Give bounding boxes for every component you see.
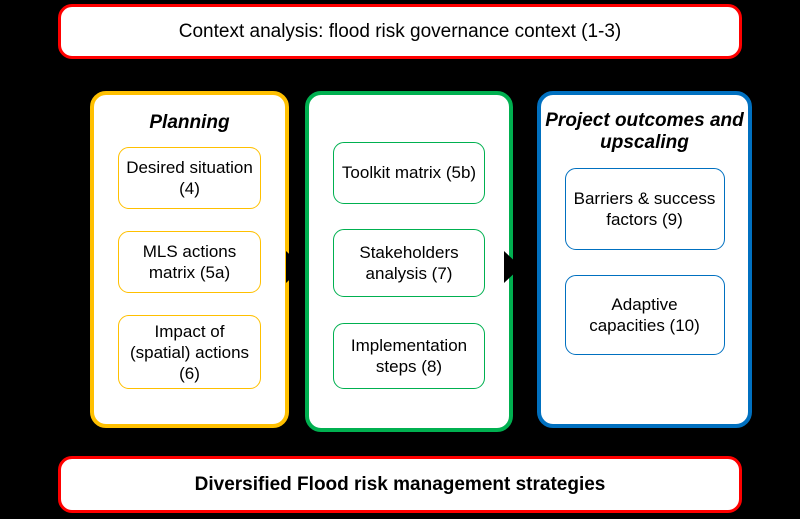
column-planning-title: Planning (94, 112, 285, 134)
diversified-strategies-banner: Diversified Flood risk management strate… (58, 456, 742, 513)
card-barriers-and-success-factors-label: Barriers & success factors (9) (572, 188, 718, 230)
diversified-strategies-banner-label: Diversified Flood risk management strate… (195, 474, 606, 496)
column-planning: Planning Desired situation (4) MLS actio… (90, 91, 289, 428)
card-adaptive-capacities: Adaptive capacities (10) (565, 275, 725, 355)
arrow-right-icon-process-to-outcomes (504, 251, 521, 283)
card-implementation-steps-label: Implementation steps (8) (340, 335, 478, 377)
card-implementation-steps: Implementation steps (8) (333, 323, 485, 389)
card-adaptive-capacities-label: Adaptive capacities (10) (572, 294, 718, 336)
card-toolkit-matrix-label: Toolkit matrix (5b) (342, 162, 476, 183)
column-project-outcomes-title: Project outcomes and upscaling (541, 110, 748, 155)
card-mls-actions-matrix-label: MLS actions matrix (5a) (125, 241, 254, 283)
column-project-outcomes: Project outcomes and upscaling Barriers … (537, 91, 752, 428)
card-desired-situation: Desired situation (4) (118, 147, 261, 209)
card-barriers-and-success-factors: Barriers & success factors (9) (565, 168, 725, 250)
card-impact-of-spatial-actions-label: Impact of (spatial) actions (6) (125, 321, 254, 384)
card-desired-situation-label: Desired situation (4) (125, 157, 254, 199)
card-mls-actions-matrix: MLS actions matrix (5a) (118, 231, 261, 293)
card-stakeholders-analysis-label: Stakeholders analysis (7) (340, 242, 478, 284)
column-process: Toolkit matrix (5b) Stakeholders analysi… (305, 91, 513, 432)
card-impact-of-spatial-actions: Impact of (spatial) actions (6) (118, 315, 261, 389)
context-analysis-banner: Context analysis: flood risk governance … (58, 4, 742, 59)
card-stakeholders-analysis: Stakeholders analysis (7) (333, 229, 485, 297)
arrow-right-icon-planning-to-process (286, 251, 303, 283)
card-toolkit-matrix: Toolkit matrix (5b) (333, 142, 485, 204)
context-analysis-banner-label: Context analysis: flood risk governance … (179, 21, 622, 43)
